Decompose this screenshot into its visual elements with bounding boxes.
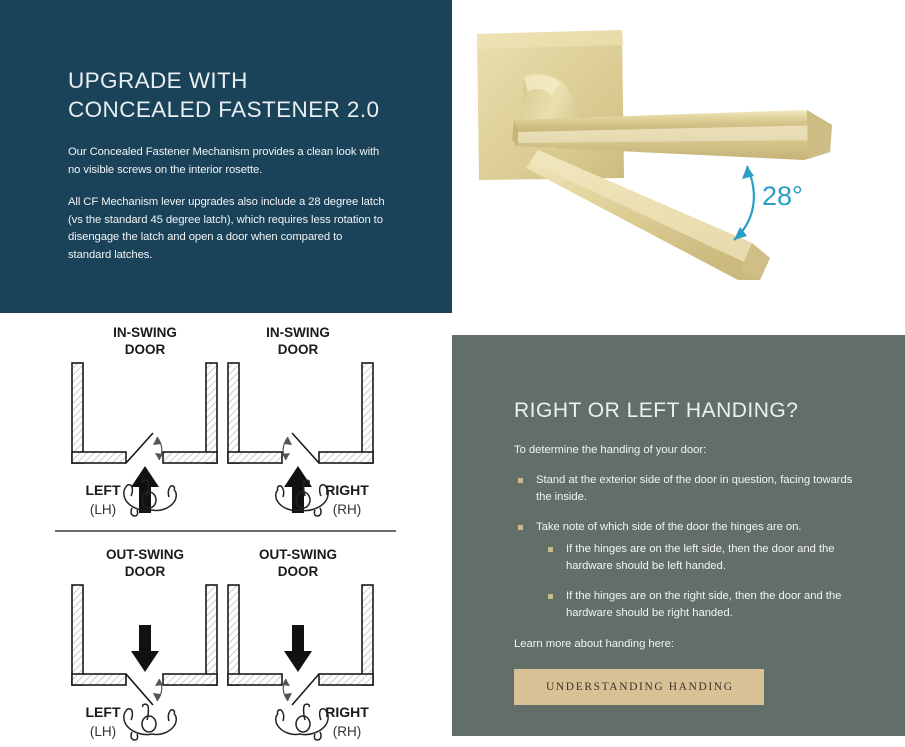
in-swing-right-hand-label: RIGHT [325,482,369,498]
in-swing-left-title-2: DOOR [125,342,166,357]
handing-lead-text: To determine the handing of your door: [514,442,859,459]
right-hand-icon [276,704,328,740]
angle-label: 28° [762,181,803,211]
diagram-in-swing-right: IN-SWING DOOR RIGHT (RH) [228,325,373,517]
in-swing-right-title-2: DOOR [278,342,319,357]
out-swing-right-title-2: DOOR [278,564,319,579]
bullet-square-icon [548,547,553,552]
in-swing-left-hand-abbr: (LH) [90,502,116,517]
list-item: If the hinges are on the right side, the… [536,588,859,622]
out-swing-left-title-2: DOOR [125,564,166,579]
handing-sub-bullet-list: If the hinges are on the left side, then… [536,541,859,622]
list-item: Stand at the exterior side of the door i… [514,472,859,506]
out-swing-right-arrow-down [284,625,312,672]
bullet-square-icon [548,594,553,599]
diagram-out-swing-right: OUT-SWING DOOR RIGHT (RH) [228,547,373,740]
bullet-text: Stand at the exterior side of the door i… [536,474,852,503]
handing-diagram-svg: IN-SWING DOOR LEFT (LH) [0,313,452,747]
bullet-text: Take note of which side of the door the … [536,521,801,533]
learn-more-text: Learn more about handing here: [514,636,859,653]
handing-info-content: RIGHT OR LEFT HANDING? To determine the … [514,397,859,705]
list-item: If the hinges are on the left side, then… [536,541,859,575]
in-swing-right-title-1: IN-SWING [266,325,330,340]
in-swing-left-title-1: IN-SWING [113,325,177,340]
out-swing-left-title-1: OUT-SWING [106,547,184,562]
out-swing-right-title-1: OUT-SWING [259,547,337,562]
left-hand-icon [124,704,176,740]
concealed-fastener-panel: UPGRADE WITH CONCEALED FASTENER 2.0 Our … [0,0,452,313]
bullet-square-icon [518,525,523,530]
diagram-in-swing-left: IN-SWING DOOR LEFT (LH) [72,325,217,517]
handing-bullet-list: Stand at the exterior side of the door i… [514,472,859,622]
page-root: UPGRADE WITH CONCEALED FASTENER 2.0 Our … [0,0,905,747]
out-swing-left-hand-abbr: (LH) [90,724,116,739]
concealed-fastener-paragraph-1: Our Concealed Fastener Mechanism provide… [68,144,388,179]
bullet-text: If the hinges are on the right side, the… [566,590,841,619]
out-swing-left-arrow-down [131,625,159,672]
in-swing-right-hand-abbr: (RH) [333,502,362,517]
handing-info-panel: RIGHT OR LEFT HANDING? To determine the … [452,335,905,736]
in-swing-left-hand-label: LEFT [86,482,121,498]
understanding-handing-button[interactable]: UNDERSTANDING HANDING [514,669,764,705]
out-swing-left-hand-label: LEFT [86,704,121,720]
handing-panel-title: RIGHT OR LEFT HANDING? [514,397,859,424]
list-item: Take note of which side of the door the … [514,519,859,622]
diagram-out-swing-left: OUT-SWING DOOR LEFT (LH) [72,547,217,740]
bullet-text: If the hinges are on the left side, then… [566,543,834,572]
concealed-fastener-content: UPGRADE WITH CONCEALED FASTENER 2.0 Our … [68,66,388,264]
bullet-square-icon [518,478,523,483]
product-photo: 28° [452,0,905,313]
handing-diagram: IN-SWING DOOR LEFT (LH) [0,313,452,747]
concealed-fastener-paragraph-2: All CF Mechanism lever upgrades also inc… [68,194,388,264]
out-swing-right-hand-label: RIGHT [325,704,369,720]
door-lever-illustration: 28° [452,0,905,313]
page-title: UPGRADE WITH CONCEALED FASTENER 2.0 [68,66,388,124]
out-swing-right-hand-abbr: (RH) [333,724,362,739]
